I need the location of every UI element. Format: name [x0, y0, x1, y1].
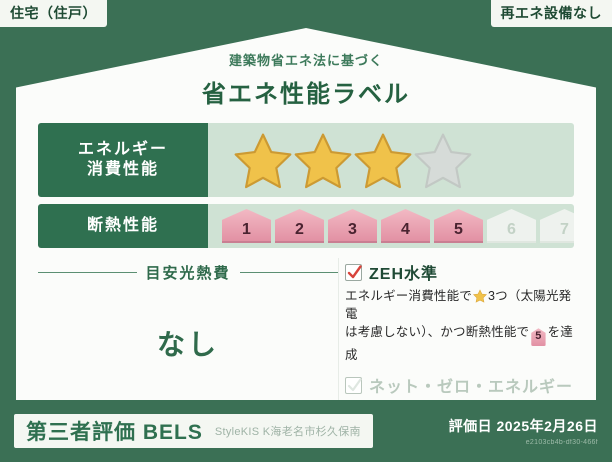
- zeh-standard-label: ZEH水準: [369, 260, 438, 284]
- footer-bar: 第三者評価 BELS StyleKIS K海老名市杉久保南 評価日 2025年2…: [0, 404, 612, 462]
- zeh-standard-head: ZEH水準: [345, 260, 574, 284]
- insulation-label-line1: 断熱性能: [87, 216, 159, 236]
- page-title: 省エネ性能ラベル: [38, 74, 574, 109]
- building-type-badge: 住宅（住戸）: [0, 0, 107, 27]
- zeh-standard-checkbox[interactable]: [345, 264, 362, 281]
- insulation-performance-value: 1234567: [208, 204, 574, 248]
- rating-rows: エネルギー 消費性能 断熱性能 1234567: [38, 123, 574, 248]
- star-rating: [234, 131, 472, 189]
- net-zero-energy-label: ネット・ゼロ・エネルギー: [369, 373, 573, 397]
- insulation-grade-scale: 1234567: [222, 209, 574, 243]
- zeh-desc-part3: は考慮しない）、かつ断熱性能で: [345, 325, 529, 339]
- zeh-desc-part1: エネルギー消費性能で: [345, 289, 472, 303]
- utility-cost-heading-text: 目安光熱費: [146, 262, 231, 283]
- energy-label-line1: エネルギー: [78, 140, 168, 160]
- energy-performance-row: エネルギー 消費性能: [38, 123, 574, 197]
- insulation-grade-1: 1: [222, 209, 271, 243]
- insulation-grade-3: 3: [328, 209, 377, 243]
- star-filled-icon: [294, 131, 352, 189]
- bels-label: 第三者評価 BELS: [26, 416, 203, 446]
- lower-section: 目安光熱費 なし ZEH水準 エネルギー消費性能で3つ（: [38, 258, 574, 408]
- evaluation-date: 評価日 2025年2月26日: [449, 416, 598, 436]
- insulation-grade-5: 5: [434, 209, 483, 243]
- energy-label-card: 建築物省エネ法に基づく 省エネ性能ラベル エネルギー 消費性能 断熱性能 12: [16, 28, 596, 400]
- inline-grade-badge: 5: [531, 328, 545, 346]
- utility-cost-value: なし: [157, 323, 219, 363]
- renewable-energy-badge: 再エネ設備なし: [491, 0, 612, 27]
- zeh-standard-block: ZEH水準 エネルギー消費性能で3つ（太陽光発電 は考慮しない）、かつ断熱性能で…: [345, 260, 574, 364]
- star-empty-icon: [414, 131, 472, 189]
- insulation-grade-2: 2: [275, 209, 324, 243]
- insulation-grade-4: 4: [381, 209, 430, 243]
- evaluation-id: e2103cb4b-df30-466f: [449, 439, 598, 446]
- utility-cost-column: 目安光熱費 なし: [38, 258, 338, 408]
- star-filled-icon: [354, 131, 412, 189]
- insulation-grade-6: 6: [487, 209, 536, 243]
- utility-cost-heading: 目安光熱費: [38, 262, 338, 283]
- zeh-standard-description: エネルギー消費性能で3つ（太陽光発電 は考慮しない）、かつ断熱性能で5を達成: [345, 287, 574, 364]
- insulation-grade-7: 7: [540, 209, 574, 243]
- insulation-performance-row: 断熱性能 1234567: [38, 204, 574, 248]
- inline-star-icon: [473, 289, 487, 303]
- bels-plate: 第三者評価 BELS StyleKIS K海老名市杉久保南: [14, 414, 373, 448]
- energy-performance-value: [208, 123, 574, 197]
- energy-label-line2: 消費性能: [87, 160, 159, 180]
- project-name: StyleKIS K海老名市杉久保南: [215, 423, 361, 439]
- star-filled-icon: [234, 131, 292, 189]
- evaluation-info: 評価日 2025年2月26日 e2103cb4b-df30-466f: [449, 416, 598, 446]
- net-zero-energy-head: ネット・ゼロ・エネルギー: [345, 373, 574, 397]
- net-zero-energy-checkbox[interactable]: [345, 377, 362, 394]
- label-subtitle: 建築物省エネ法に基づく: [38, 50, 574, 69]
- insulation-performance-label: 断熱性能: [38, 204, 208, 248]
- zeh-column: ZEH水準 エネルギー消費性能で3つ（太陽光発電 は考慮しない）、かつ断熱性能で…: [338, 258, 574, 408]
- energy-performance-label: エネルギー 消費性能: [38, 123, 208, 197]
